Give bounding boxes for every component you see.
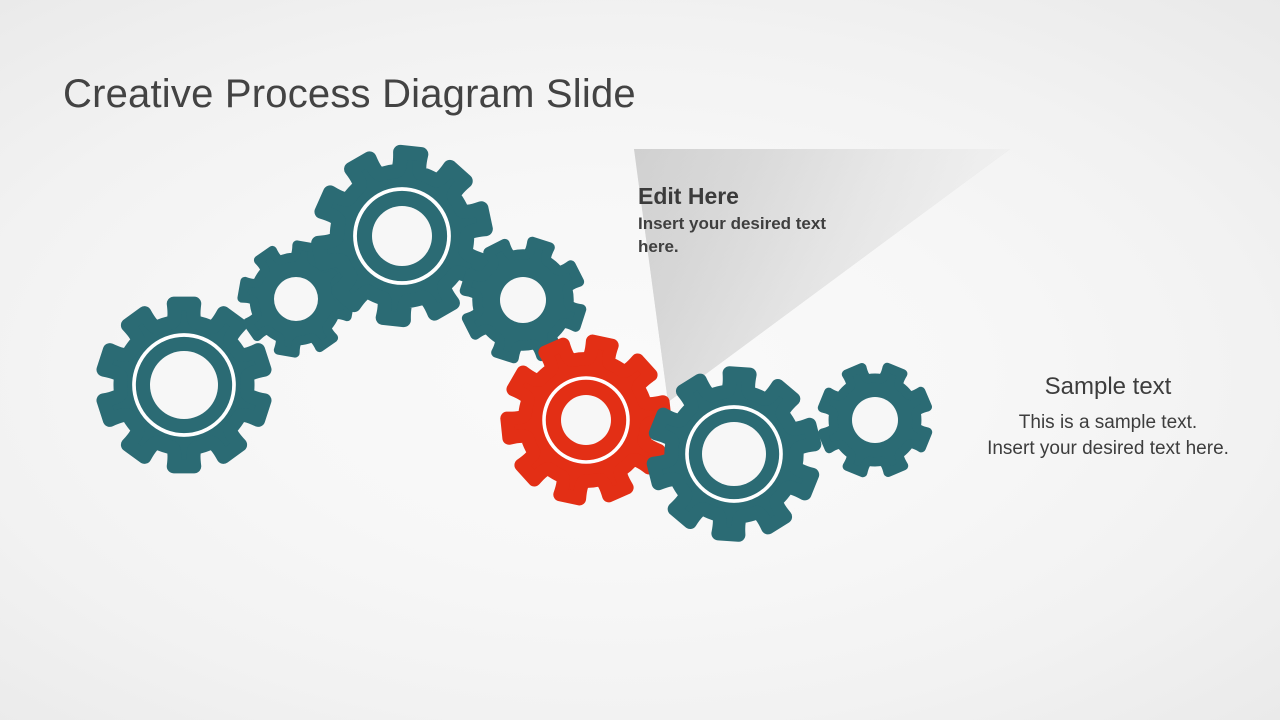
gear-large-top-icon — [318, 152, 485, 320]
callout-text-block: Edit Here Insert your desired text here. — [638, 182, 868, 258]
gear-large-right-hub-hole — [702, 422, 766, 486]
sample-text-block: Sample text This is a sample text. Inser… — [940, 372, 1276, 462]
gear-small-right-icon — [822, 367, 927, 472]
sample-heading: Sample text — [940, 372, 1276, 402]
gear-red-highlight-icon — [507, 341, 665, 498]
slide-canvas: Creative Process Diagram Slide — [0, 0, 1280, 720]
gear-red-highlight-hub-hole — [561, 395, 611, 445]
gear-small-right-hub-hole — [852, 397, 898, 443]
gear-large-right-icon — [654, 373, 815, 535]
gear-large-top-hub-hole — [372, 206, 432, 266]
callout-heading: Edit Here — [638, 182, 868, 210]
sample-body-text: This is a sample text. Insert your desir… — [940, 410, 1276, 462]
callout-body-text: Insert your desired text here. — [638, 212, 838, 258]
sample-body-line-1: This is a sample text. — [940, 410, 1276, 436]
gear-large-left-hub-hole — [150, 351, 218, 419]
gear-large-left-icon — [103, 304, 264, 467]
gear-medium-top-right-hub-hole — [500, 277, 546, 323]
gear-medium-left-hub-hole — [274, 277, 318, 321]
process-gear-diagram — [0, 0, 1280, 720]
sample-body-line-2: Insert your desired text here. — [940, 436, 1276, 462]
